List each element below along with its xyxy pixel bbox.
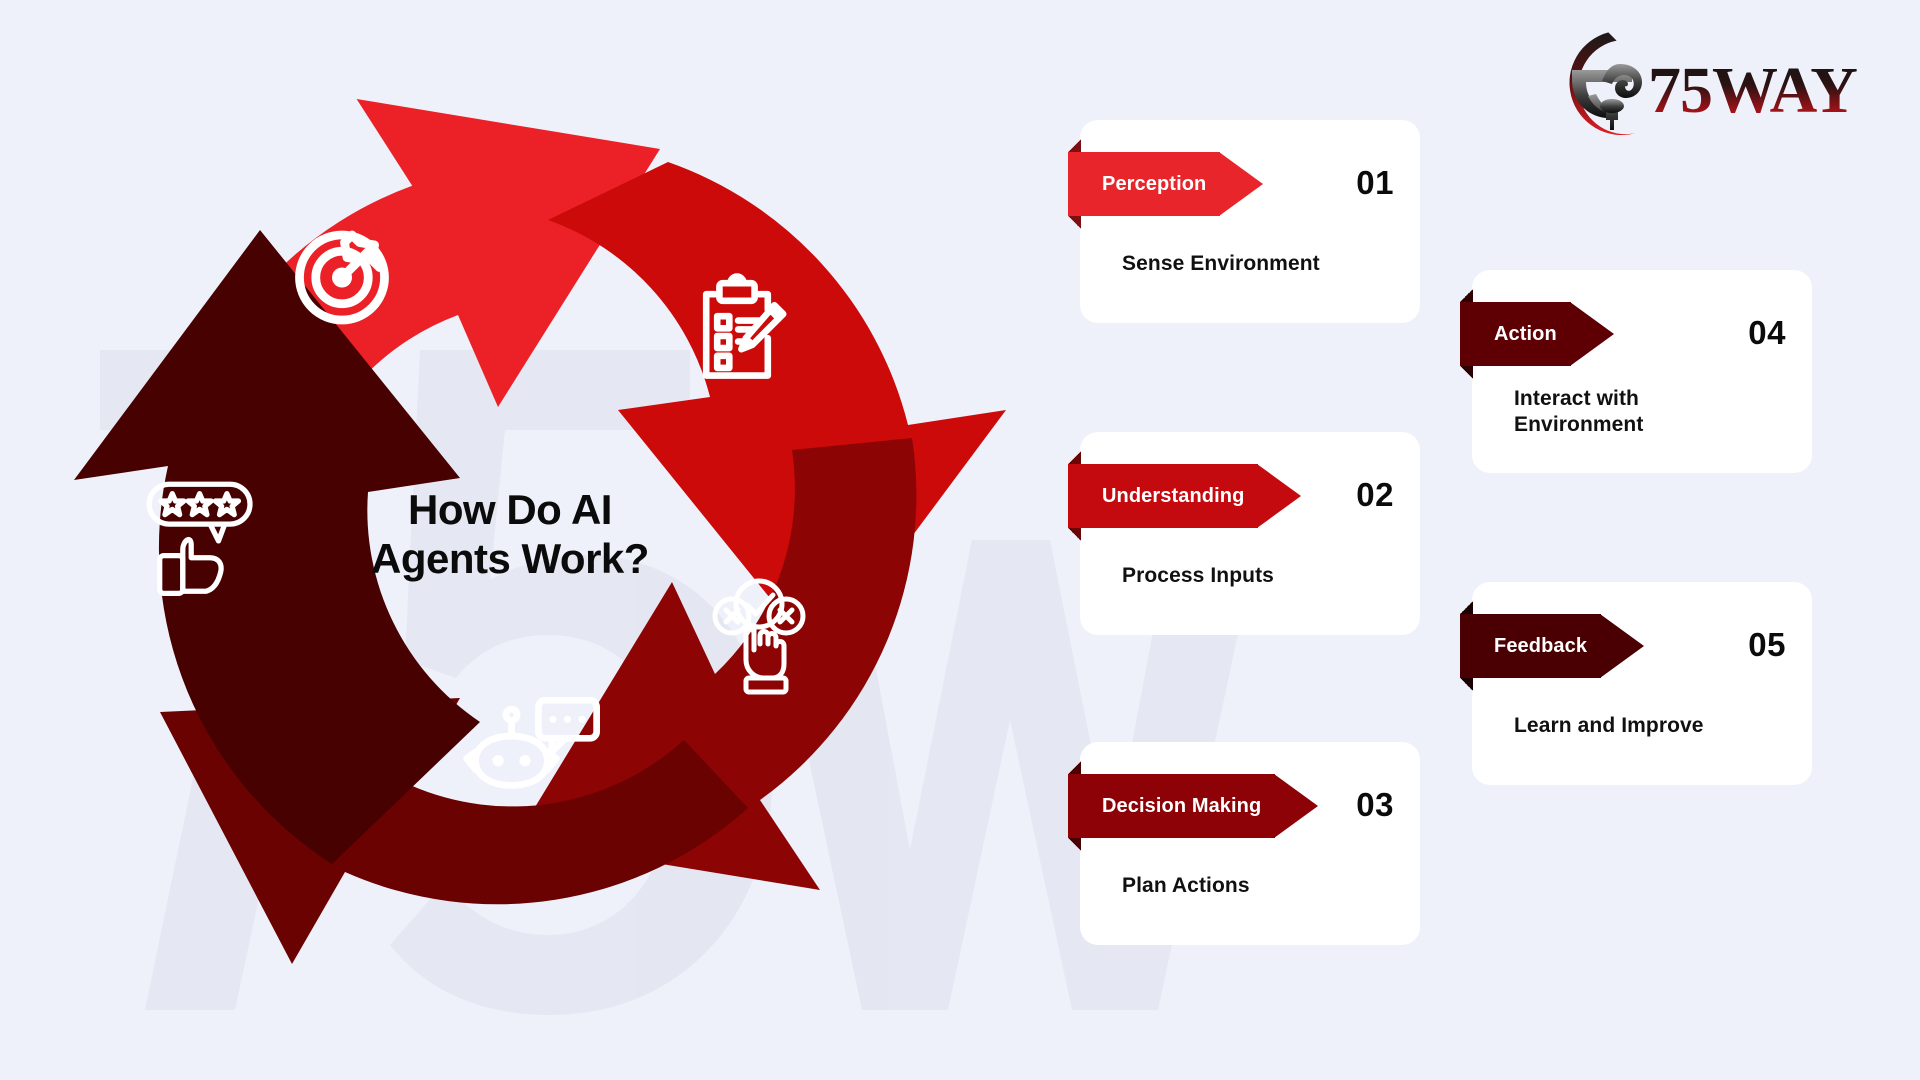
step-number-03: 03 bbox=[1356, 786, 1394, 824]
75way-logo: 75WAY bbox=[1536, 24, 1886, 144]
step-card-01[interactable]: Perception 01 Sense Environment bbox=[1080, 120, 1420, 323]
ribbon-fold-bottom bbox=[1068, 216, 1081, 229]
step-card-04[interactable]: Action 04 Interact with Environment bbox=[1472, 270, 1812, 473]
step-description-02: Process Inputs bbox=[1122, 563, 1274, 589]
step-title-05: Feedback bbox=[1494, 635, 1587, 658]
logo-wordmark: 75WAY bbox=[1648, 54, 1857, 127]
step-description-01: Sense Environment bbox=[1122, 251, 1320, 277]
cycle-title-line2: Agents Work? bbox=[310, 534, 710, 583]
ribbon-fold-top bbox=[1460, 601, 1473, 614]
step-ribbon-04: Action bbox=[1460, 302, 1614, 366]
step-card-03[interactable]: Decision Making 03 Plan Actions bbox=[1080, 742, 1420, 945]
step-ribbon-03: Decision Making bbox=[1068, 774, 1318, 838]
step-title-03: Decision Making bbox=[1102, 795, 1261, 818]
ribbon-fold-top bbox=[1068, 451, 1081, 464]
ribbon-fold-bottom bbox=[1068, 838, 1081, 851]
step-number-02: 02 bbox=[1356, 476, 1394, 514]
eagle-mark-icon bbox=[1572, 64, 1642, 130]
cycle-title: How Do AI Agents Work? bbox=[310, 485, 710, 583]
ribbon-fold-bottom bbox=[1460, 678, 1473, 691]
step-description-04-line2: Environment bbox=[1514, 412, 1643, 438]
ribbon-fold-top bbox=[1068, 761, 1081, 774]
step-title-02: Understanding bbox=[1102, 485, 1244, 508]
step-card-05[interactable]: Feedback 05 Learn and Improve bbox=[1472, 582, 1812, 785]
step-ribbon-01: Perception bbox=[1068, 152, 1263, 216]
ribbon-fold-top bbox=[1068, 139, 1081, 152]
step-description-03: Plan Actions bbox=[1122, 873, 1250, 899]
step-title-01: Perception bbox=[1102, 173, 1206, 196]
ribbon-fold-bottom bbox=[1460, 366, 1473, 379]
step-number-05: 05 bbox=[1748, 626, 1786, 664]
step-ribbon-02: Understanding bbox=[1068, 464, 1301, 528]
cycle-title-line1: How Do AI bbox=[310, 485, 710, 534]
step-ribbon-05: Feedback bbox=[1460, 614, 1644, 678]
step-card-02[interactable]: Understanding 02 Process Inputs bbox=[1080, 432, 1420, 635]
step-description-04-line1: Interact with bbox=[1514, 386, 1643, 412]
ribbon-fold-bottom bbox=[1068, 528, 1081, 541]
ribbon-fold-top bbox=[1460, 289, 1473, 302]
step-number-01: 01 bbox=[1356, 164, 1394, 202]
step-title-04: Action bbox=[1494, 323, 1557, 346]
step-description-05: Learn and Improve bbox=[1514, 713, 1704, 739]
target-icon bbox=[300, 235, 385, 320]
step-description-04: Interact with Environment bbox=[1514, 386, 1643, 439]
step-number-04: 04 bbox=[1748, 314, 1786, 352]
